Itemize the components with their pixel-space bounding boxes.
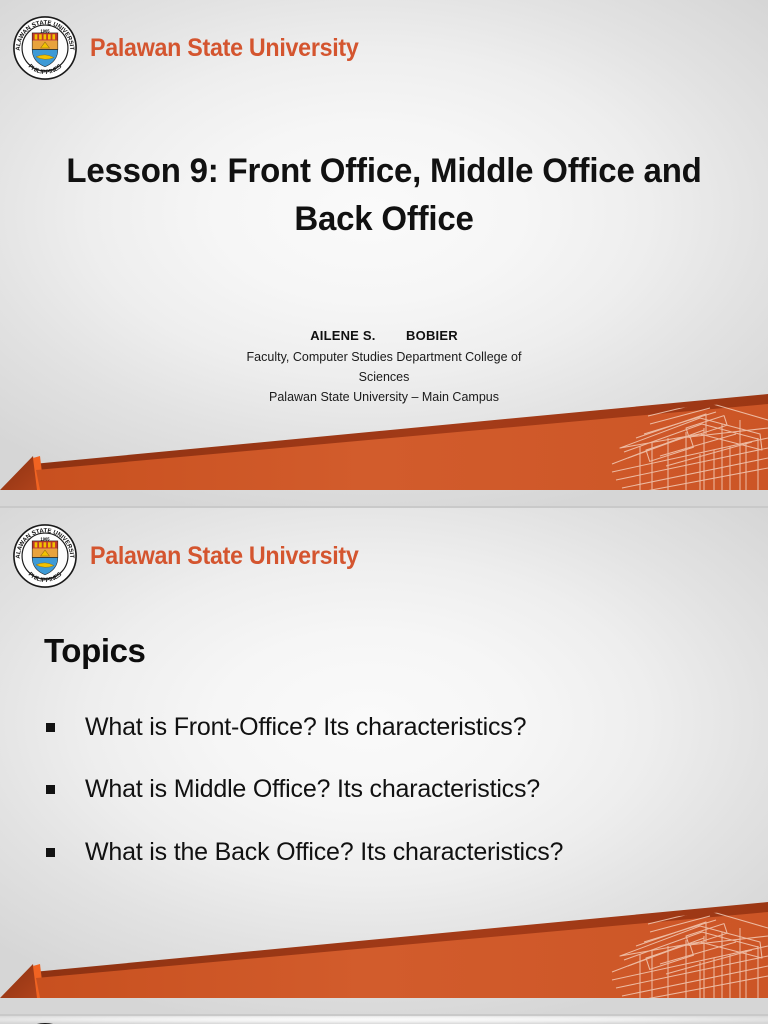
topics-heading: Topics [44, 632, 146, 670]
list-item: What is Middle Office? Its characteristi… [46, 774, 728, 805]
svg-text:1965: 1965 [40, 28, 50, 33]
page-title: Lesson 9: Front Office, Middle Office an… [50, 148, 717, 243]
slide-title: PALAWAN STATE UNIVERSITY PHILIPPINES 196… [0, 0, 768, 508]
brand-title: Palawan State University [90, 34, 359, 63]
brand-title: Palawan State University [90, 542, 359, 571]
list-item-label: What is Front-Office? Its characteristic… [85, 712, 526, 743]
slide-deck: PALAWAN STATE UNIVERSITY PHILIPPINES 196… [0, 0, 768, 1024]
slide-topics: PALAWAN STATE UNIVERSITY PHILIPPINES 196… [0, 508, 768, 1016]
author-affiliation-line-2: Sciences [120, 368, 648, 388]
psu-seal-icon: PALAWAN STATE UNIVERSITY PHILIPPINES 196… [8, 11, 82, 85]
author-name: AILENE S. BOBIER [120, 328, 648, 343]
footer-ribbon-graphic [0, 902, 768, 1014]
bullet-square-icon [46, 848, 55, 857]
footer-ribbon-graphic [0, 394, 768, 506]
psu-seal-icon [8, 1018, 82, 1024]
bullet-square-icon [46, 723, 55, 732]
psu-seal-icon: PALAWAN STATE UNIVERSITY PHILIPPINES 196… [8, 519, 82, 593]
title-block: Lesson 9: Front Office, Middle Office an… [40, 148, 728, 243]
author-affiliation-line-1: Faculty, Computer Studies Department Col… [120, 348, 648, 368]
topics-list: What is Front-Office? Its characteristic… [46, 712, 728, 899]
author-block: AILENE S. BOBIER Faculty, Computer Studi… [120, 328, 648, 407]
slide-header: PALAWAN STATE UNIVERSITY PHILIPPINES 196… [0, 0, 768, 96]
list-item: What is the Back Office? Its characteris… [46, 837, 728, 868]
slide-next-partial [0, 1016, 768, 1024]
bullet-square-icon [46, 785, 55, 794]
author-affiliation-line-3: Palawan State University – Main Campus [120, 388, 648, 408]
slide-header: PALAWAN STATE UNIVERSITY PHILIPPINES 196… [0, 508, 768, 604]
list-item: What is Front-Office? Its characteristic… [46, 712, 728, 743]
list-item-label: What is the Back Office? Its characteris… [85, 837, 563, 868]
list-item-label: What is Middle Office? Its characteristi… [85, 774, 540, 805]
svg-text:1965: 1965 [40, 536, 50, 541]
